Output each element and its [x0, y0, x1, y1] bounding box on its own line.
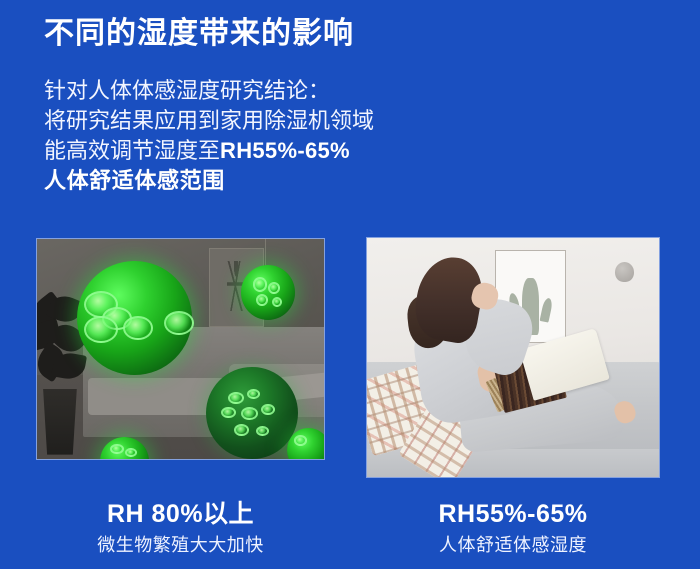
page-title: 不同的湿度带来的影响: [44, 16, 354, 52]
microbe-nodule: [125, 448, 137, 457]
paragraph-line-3-range: RH55%-65%: [220, 138, 350, 163]
microbe-sphere: [206, 367, 298, 459]
paragraph-line-2: 将研究结果应用到家用除湿机领域: [44, 106, 374, 136]
photo-comfort-humidity: [366, 237, 660, 478]
caption-subtitle: 微生物繁殖大大加快: [36, 535, 325, 557]
caption-title: RH 80%以上: [36, 500, 325, 529]
photo-high-humidity: [36, 238, 325, 460]
microbe-nodule: [247, 389, 260, 399]
paragraph-line-4: 人体舒适体感范围: [44, 166, 374, 196]
microbe-nodule: [221, 407, 236, 418]
microbe-nodule: [272, 297, 282, 307]
microbe-nodule: [261, 404, 275, 415]
intro-paragraph: 针对人体体感湿度研究结论： 将研究结果应用到家用除湿机领域 能高效调节湿度至RH…: [44, 76, 374, 196]
microbe-nodule: [256, 426, 269, 436]
microbe-nodule: [234, 424, 249, 436]
microbe-nodule: [256, 294, 268, 306]
caption-high-humidity: RH 80%以上 微生物繁殖大大加快: [36, 500, 325, 556]
microbe-nodule: [228, 392, 244, 404]
infographic-page: 不同的湿度带来的影响 针对人体体感湿度研究结论： 将研究结果应用到家用除湿机领域…: [0, 0, 700, 569]
microbe-sphere: [100, 437, 149, 460]
microbe-nodule: [84, 316, 118, 343]
plant-pot: [40, 389, 80, 455]
pendant-lamp-dark: [265, 239, 266, 268]
paragraph-line-3-text: 能高效调节湿度至: [44, 138, 220, 163]
microbe-nodule: [268, 282, 280, 294]
microbe-nodule: [123, 316, 153, 340]
microbe-nodule: [110, 444, 124, 455]
microbe-nodule: [241, 407, 258, 420]
microbe-nodule: [253, 277, 267, 291]
caption-title: RH55%-65%: [366, 500, 660, 529]
bright-room-scene: [367, 238, 659, 477]
microbe-sphere: [77, 261, 192, 375]
microbe-nodule: [164, 311, 194, 335]
caption-subtitle: 人体舒适体感湿度: [366, 535, 660, 557]
wall-speaker-icon: [615, 262, 634, 282]
caption-comfort-humidity: RH55%-65% 人体舒适体感湿度: [366, 500, 660, 556]
paragraph-line-1: 针对人体体感湿度研究结论：: [44, 76, 374, 106]
dark-room-scene: [37, 239, 324, 459]
microbe-nodule: [294, 435, 307, 446]
paragraph-line-3: 能高效调节湿度至RH55%-65%: [44, 136, 374, 166]
